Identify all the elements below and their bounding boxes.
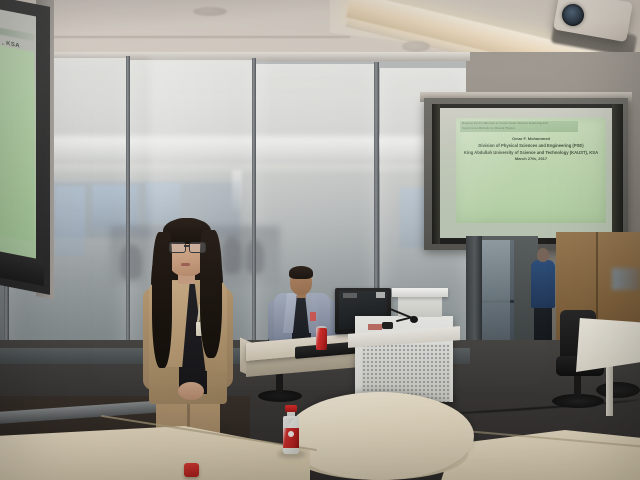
beverage-can-icon (316, 328, 327, 350)
red-cap-foreground (184, 463, 199, 477)
glasses-icon (189, 242, 206, 253)
glass-mullion (252, 58, 256, 360)
presenter-mouth (181, 263, 190, 266)
reflection-figure (120, 244, 142, 280)
glasses-bridge (184, 245, 190, 247)
monitor-label (343, 293, 357, 298)
right-screen-slide: Mapping Earth's Materials at Atomic Scal… (456, 118, 606, 223)
microphone-base (382, 322, 393, 329)
bottle-cap-icon (285, 405, 297, 412)
lectern-top-shelf (392, 288, 448, 297)
ceiling-speaker-icon (402, 41, 430, 52)
background-person-head (537, 248, 549, 262)
microphone-icon (410, 316, 418, 323)
reflection-window (92, 185, 138, 229)
left-screen-slide (0, 44, 34, 242)
right-screen-right-edge (612, 104, 623, 244)
ceiling-vent-icon (193, 7, 227, 16)
slide-glare (456, 118, 546, 223)
background-person-body (531, 260, 555, 308)
round-table-top (286, 392, 474, 480)
lectern-item (368, 324, 382, 330)
bottle-label-logo (288, 431, 294, 437)
presentation-room-photo: , KSA Mapping Earth's Materials at Atomi… (0, 0, 640, 480)
seated-man-hair (289, 266, 313, 279)
glass-mullion (126, 56, 130, 356)
glasses-icon (169, 242, 186, 253)
side-table-leg (606, 366, 613, 416)
chair-base (596, 382, 640, 398)
office-chair-post-right (574, 374, 581, 398)
right-screen-left-edge (432, 104, 440, 244)
presenter-hands (178, 382, 204, 400)
reflection-window (55, 186, 85, 256)
presenter-hair-left (152, 232, 172, 368)
seated-man-badge (310, 312, 316, 321)
monitor-sticker (376, 292, 385, 298)
window-glow (612, 268, 640, 290)
